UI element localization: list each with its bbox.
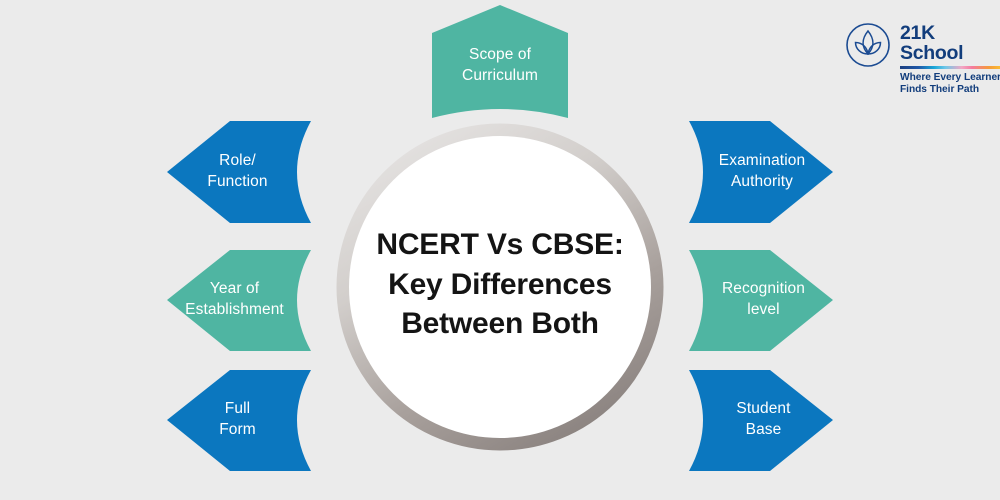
infographic-canvas: Scope of Curriculum Role/ Function Exami… [0,0,1000,500]
chevron-year-of-establishment[interactable] [167,250,311,351]
chevron-student-base[interactable] [689,370,833,471]
chevron-role-function[interactable] [167,121,311,223]
page-title: NCERT Vs CBSE: Key Differences Between B… [330,225,670,344]
brand-text-block: 21K School Where Every Learner Finds The… [900,22,1000,97]
chevron-examination-authority[interactable] [689,121,833,223]
brand-gradient-rule [900,66,1000,69]
lotus-in-circle-icon [845,22,891,68]
chevron-recognition-level[interactable] [689,250,833,351]
brand-tagline: Where Every Learner Finds Their Path [900,72,1000,98]
chevron-full-form[interactable] [167,370,311,471]
chevron-scope-of-curriculum[interactable] [432,5,568,118]
brand-logo: 21K School Where Every Learner Finds The… [845,22,1000,97]
brand-name: 21K School [900,24,1000,63]
